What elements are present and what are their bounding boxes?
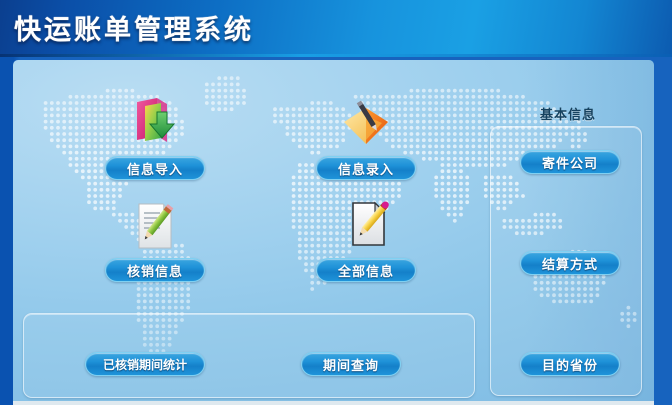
button-destination-province[interactable]: 目的省份 bbox=[520, 352, 620, 376]
button-all-information[interactable]: 全部信息 bbox=[316, 258, 416, 282]
main-content: 基本信息 bbox=[13, 60, 654, 404]
button-sender-company[interactable]: 寄件公司 bbox=[520, 150, 620, 174]
page-title: 快运账单管理系统 bbox=[14, 8, 254, 47]
folder-pen-icon bbox=[338, 96, 394, 152]
basic-info-panel-title: 基本信息 bbox=[518, 104, 618, 123]
content-bottom-edge bbox=[13, 401, 654, 405]
application-window: 快运账单管理系统 基本信息 bbox=[0, 0, 672, 405]
button-information-import[interactable]: 信息导入 bbox=[105, 156, 205, 180]
title-bar: 快运账单管理系统 bbox=[0, 0, 672, 57]
button-settlement-method[interactable]: 结算方式 bbox=[520, 251, 620, 275]
document-pencil-green-icon bbox=[127, 198, 183, 254]
folder-download-icon bbox=[127, 94, 183, 150]
button-writeoff-information[interactable]: 核销信息 bbox=[105, 258, 205, 282]
button-writtenoff-period-statistics[interactable]: 已核销期间统计 bbox=[85, 352, 205, 376]
document-pencil-yellow-icon bbox=[340, 196, 396, 252]
button-period-query[interactable]: 期间查询 bbox=[301, 352, 401, 376]
button-information-entry[interactable]: 信息录入 bbox=[316, 156, 416, 180]
